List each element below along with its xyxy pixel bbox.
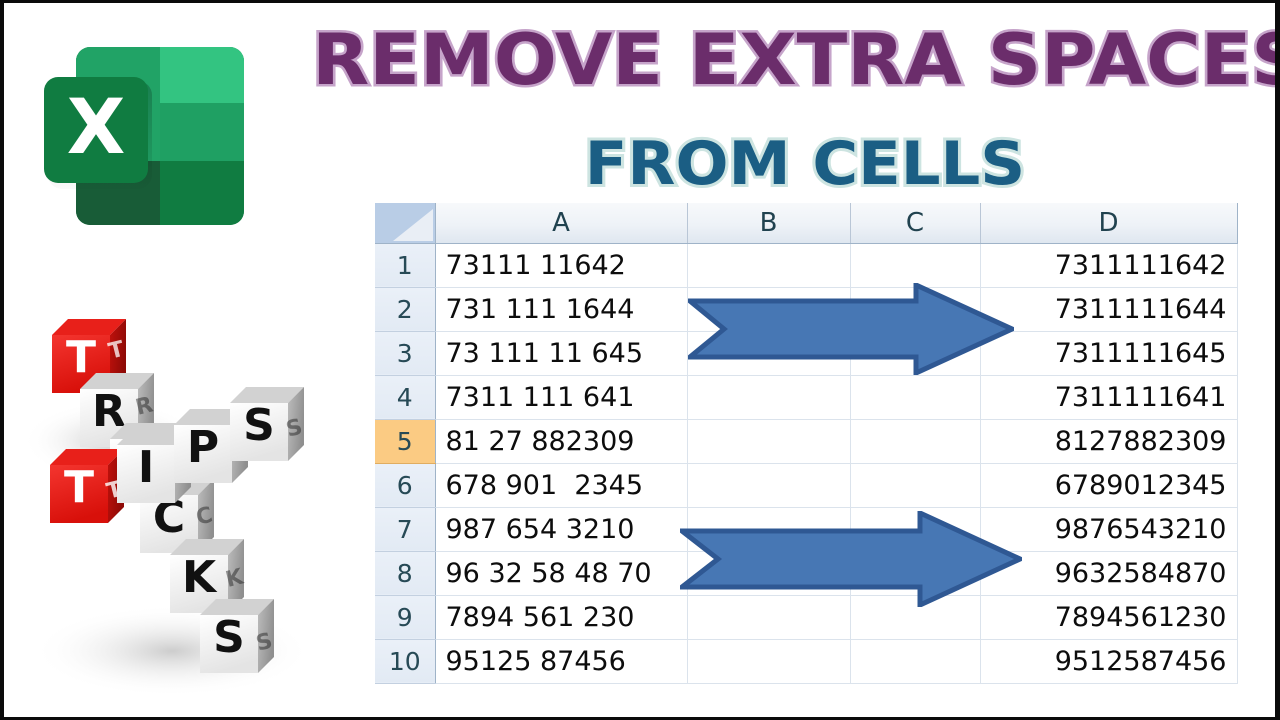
cell-d7[interactable]: 9876543210 bbox=[980, 507, 1237, 551]
cell-a6[interactable]: 678 901 2345 bbox=[435, 463, 687, 507]
cell-b5[interactable] bbox=[687, 419, 850, 463]
spreadsheet-grid[interactable]: A B C D 1 73111 11642 7311111642 2 731 1… bbox=[375, 203, 1237, 681]
cell-a4[interactable]: 7311 111 641 bbox=[435, 375, 687, 419]
cell-c4[interactable] bbox=[850, 375, 980, 419]
cell-d9[interactable]: 7894561230 bbox=[980, 595, 1237, 639]
spreadsheet-table[interactable]: A B C D 1 73111 11642 7311111642 2 731 1… bbox=[375, 203, 1238, 684]
table-row[interactable]: 7 987 654 3210 9876543210 bbox=[375, 507, 1237, 551]
cell-c8[interactable] bbox=[850, 551, 980, 595]
table-row[interactable]: 4 7311 111 641 7311111641 bbox=[375, 375, 1237, 419]
cell-d6[interactable]: 6789012345 bbox=[980, 463, 1237, 507]
excel-logo: X bbox=[30, 23, 260, 228]
row-header-3[interactable]: 3 bbox=[375, 331, 435, 375]
table-row[interactable]: 10 95125 87456 9512587456 bbox=[375, 639, 1237, 683]
cell-b4[interactable] bbox=[687, 375, 850, 419]
column-header-a[interactable]: A bbox=[435, 203, 687, 243]
row-header-9[interactable]: 9 bbox=[375, 595, 435, 639]
cell-b10[interactable] bbox=[687, 639, 850, 683]
column-header-b[interactable]: B bbox=[687, 203, 850, 243]
cell-b6[interactable] bbox=[687, 463, 850, 507]
cell-d5[interactable]: 8127882309 bbox=[980, 419, 1237, 463]
row-header-2[interactable]: 2 bbox=[375, 287, 435, 331]
row-header-8[interactable]: 8 bbox=[375, 551, 435, 595]
cell-d2[interactable]: 7311111644 bbox=[980, 287, 1237, 331]
table-row[interactable]: 2 731 111 1644 7311111644 bbox=[375, 287, 1237, 331]
cell-d4[interactable]: 7311111641 bbox=[980, 375, 1237, 419]
cell-a9[interactable]: 7894 561 230 bbox=[435, 595, 687, 639]
row-header-6[interactable]: 6 bbox=[375, 463, 435, 507]
cell-c6[interactable] bbox=[850, 463, 980, 507]
cell-c3[interactable] bbox=[850, 331, 980, 375]
cell-d10[interactable]: 9512587456 bbox=[980, 639, 1237, 683]
cell-a1[interactable]: 73111 11642 bbox=[435, 243, 687, 287]
cell-c10[interactable] bbox=[850, 639, 980, 683]
cell-a7[interactable]: 987 654 3210 bbox=[435, 507, 687, 551]
svg-text:T: T bbox=[64, 462, 94, 513]
cell-a2[interactable]: 731 111 1644 bbox=[435, 287, 687, 331]
cell-a10[interactable]: 95125 87456 bbox=[435, 639, 687, 683]
slide-canvas: X REMOVE EXTRA SPACES FROM CELLS bbox=[0, 0, 1280, 720]
cell-b9[interactable] bbox=[687, 595, 850, 639]
svg-text:P: P bbox=[187, 422, 219, 473]
row-header-5[interactable]: 5 bbox=[375, 419, 435, 463]
table-row[interactable]: 1 73111 11642 7311111642 bbox=[375, 243, 1237, 287]
cell-c9[interactable] bbox=[850, 595, 980, 639]
page-subtitle: FROM CELLS bbox=[321, 131, 1280, 197]
row-header-10[interactable]: 10 bbox=[375, 639, 435, 683]
svg-text:S: S bbox=[213, 612, 245, 663]
cell-b2[interactable] bbox=[687, 287, 850, 331]
svg-text:K: K bbox=[182, 552, 218, 603]
page-title: REMOVE EXTRA SPACES bbox=[312, 21, 1280, 99]
spreadsheet-body: 1 73111 11642 7311111642 2 731 111 1644 … bbox=[375, 243, 1237, 683]
cell-d8[interactable]: 9632584870 bbox=[980, 551, 1237, 595]
row-header-1[interactable]: 1 bbox=[375, 243, 435, 287]
cell-a5[interactable]: 81 27 882309 bbox=[435, 419, 687, 463]
cell-b7[interactable] bbox=[687, 507, 850, 551]
table-row[interactable]: 6 678 901 2345 6789012345 bbox=[375, 463, 1237, 507]
cell-c7[interactable] bbox=[850, 507, 980, 551]
cell-d3[interactable]: 7311111645 bbox=[980, 331, 1237, 375]
column-header-d[interactable]: D bbox=[980, 203, 1237, 243]
table-row[interactable]: 9 7894 561 230 7894561230 bbox=[375, 595, 1237, 639]
table-row-active[interactable]: 5 81 27 882309 8127882309 bbox=[375, 419, 1237, 463]
cell-c2[interactable] bbox=[850, 287, 980, 331]
cell-c5[interactable] bbox=[850, 419, 980, 463]
cell-b1[interactable] bbox=[687, 243, 850, 287]
tips-tricks-dice-image: T T R R I C C K K bbox=[22, 291, 314, 703]
select-all-triangle-icon bbox=[393, 209, 433, 241]
column-header-c[interactable]: C bbox=[850, 203, 980, 243]
svg-text:T: T bbox=[66, 332, 96, 383]
cell-c1[interactable] bbox=[850, 243, 980, 287]
row-header-4[interactable]: 4 bbox=[375, 375, 435, 419]
table-row[interactable]: 3 73 111 11 645 7311111645 bbox=[375, 331, 1237, 375]
cell-a8[interactable]: 96 32 58 48 70 bbox=[435, 551, 687, 595]
select-all-corner[interactable] bbox=[375, 203, 435, 243]
excel-logo-letter: X bbox=[67, 82, 126, 171]
cell-b3[interactable] bbox=[687, 331, 850, 375]
cell-a3[interactable]: 73 111 11 645 bbox=[435, 331, 687, 375]
column-header-row: A B C D bbox=[375, 203, 1237, 243]
cell-d1[interactable]: 7311111642 bbox=[980, 243, 1237, 287]
table-row[interactable]: 8 96 32 58 48 70 9632584870 bbox=[375, 551, 1237, 595]
row-header-7[interactable]: 7 bbox=[375, 507, 435, 551]
svg-text:I: I bbox=[138, 442, 154, 493]
svg-text:S: S bbox=[243, 400, 275, 451]
cell-b8[interactable] bbox=[687, 551, 850, 595]
